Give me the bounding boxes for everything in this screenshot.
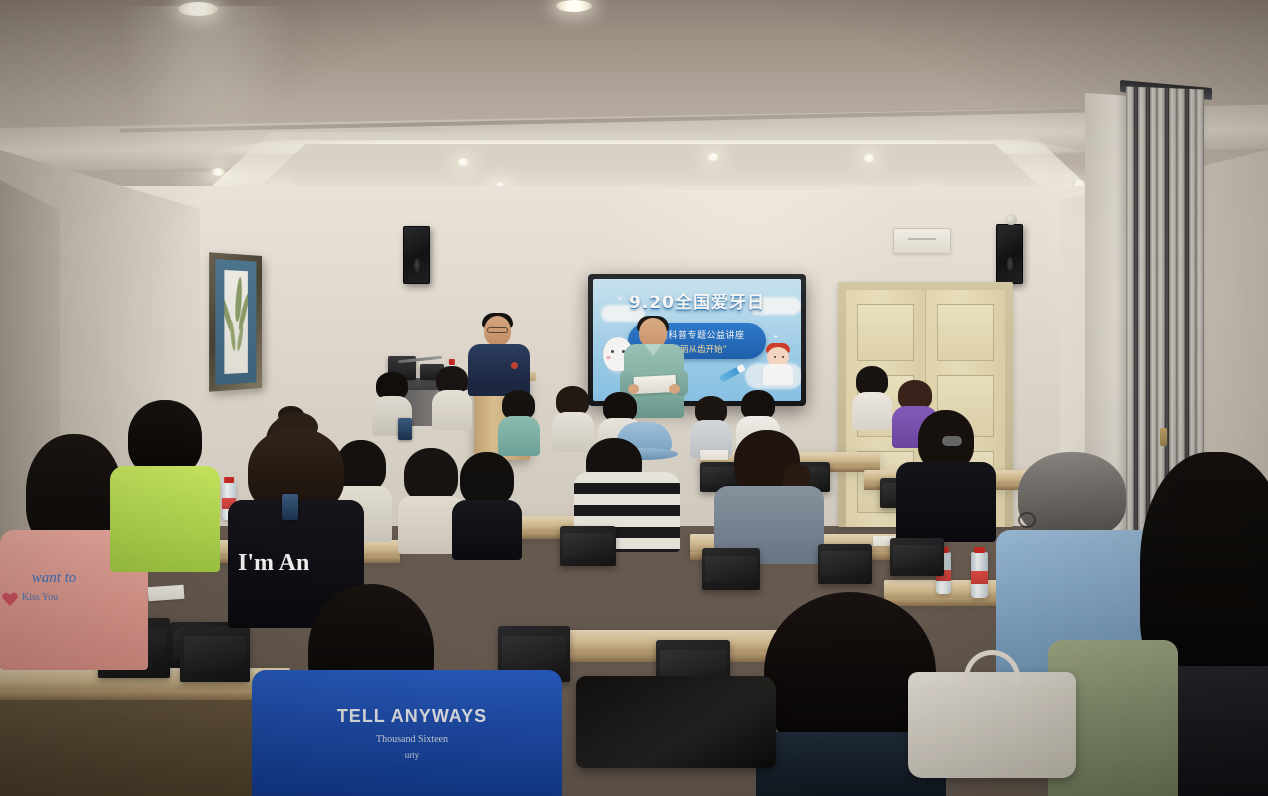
lecture-room-photo: ✦ ✦ ✧ 9.20全国爱牙日 健康科普专题公益讲座 “美丽从齿开始” (0, 0, 1268, 796)
host-shirt (468, 344, 530, 396)
paper-sheet (700, 450, 728, 460)
eyeglasses-icon (487, 327, 508, 333)
desk-front-panel (0, 700, 290, 796)
picture-mat (215, 259, 256, 385)
chair[interactable] (818, 544, 872, 584)
downlight-icon (706, 153, 720, 161)
smartphone[interactable] (282, 494, 298, 520)
picture-caption-label (238, 359, 244, 369)
downlight-icon (211, 168, 225, 176)
downlight-icon (862, 154, 876, 162)
downlight-icon (556, 0, 592, 12)
shirt (252, 670, 562, 796)
audience-member (714, 430, 824, 562)
black-bag[interactable] (576, 676, 776, 768)
water-bottle[interactable] (971, 552, 988, 598)
audience-member: TELL ANYWAYS Thousand Sixteen urty (252, 584, 562, 796)
slide-headline: 9.20全国爱牙日 (629, 288, 765, 313)
picture-artwork (224, 270, 248, 375)
framed-botanical-print (209, 252, 262, 391)
desk-edge (0, 690, 290, 700)
door-sign (893, 228, 951, 254)
host-shirt-logo (511, 362, 518, 369)
audience-member (110, 400, 220, 570)
shirt (498, 416, 540, 456)
hair (1018, 452, 1126, 538)
shirt (110, 466, 220, 572)
dentist-icon (761, 341, 795, 385)
hair (404, 448, 458, 502)
shirt (432, 390, 472, 430)
hair (460, 452, 514, 506)
paper-sheet (148, 585, 185, 601)
shirt (452, 500, 522, 560)
speaker-mount-icon (1005, 214, 1017, 225)
white-handbag[interactable] (908, 672, 1076, 778)
wall-speaker-left (403, 226, 430, 284)
audience-member (498, 390, 540, 454)
sparkle-icon: ✦ (773, 333, 779, 341)
smartphone[interactable] (398, 418, 412, 440)
chair[interactable] (702, 548, 760, 590)
chair[interactable] (180, 626, 250, 682)
shirt (896, 462, 996, 542)
audience-member (452, 452, 522, 558)
chair[interactable] (560, 526, 616, 566)
audience-member (896, 410, 996, 540)
toothbrush-icon (719, 366, 742, 383)
downlight-icon (456, 158, 470, 166)
partition-handle[interactable] (1160, 428, 1167, 446)
audience-member (432, 366, 472, 428)
chair[interactable] (890, 538, 944, 576)
shirt (852, 392, 892, 430)
hair-tie (942, 436, 962, 446)
wall-speaker-right (996, 224, 1023, 284)
eyeglasses-icon (1018, 512, 1036, 528)
host-at-podium (468, 316, 530, 396)
hair (128, 400, 202, 476)
downlight-icon (178, 2, 218, 16)
audience-member (852, 366, 892, 428)
lecturer-hand-right (669, 384, 680, 394)
sparkle-icon: ✦ (617, 295, 623, 303)
